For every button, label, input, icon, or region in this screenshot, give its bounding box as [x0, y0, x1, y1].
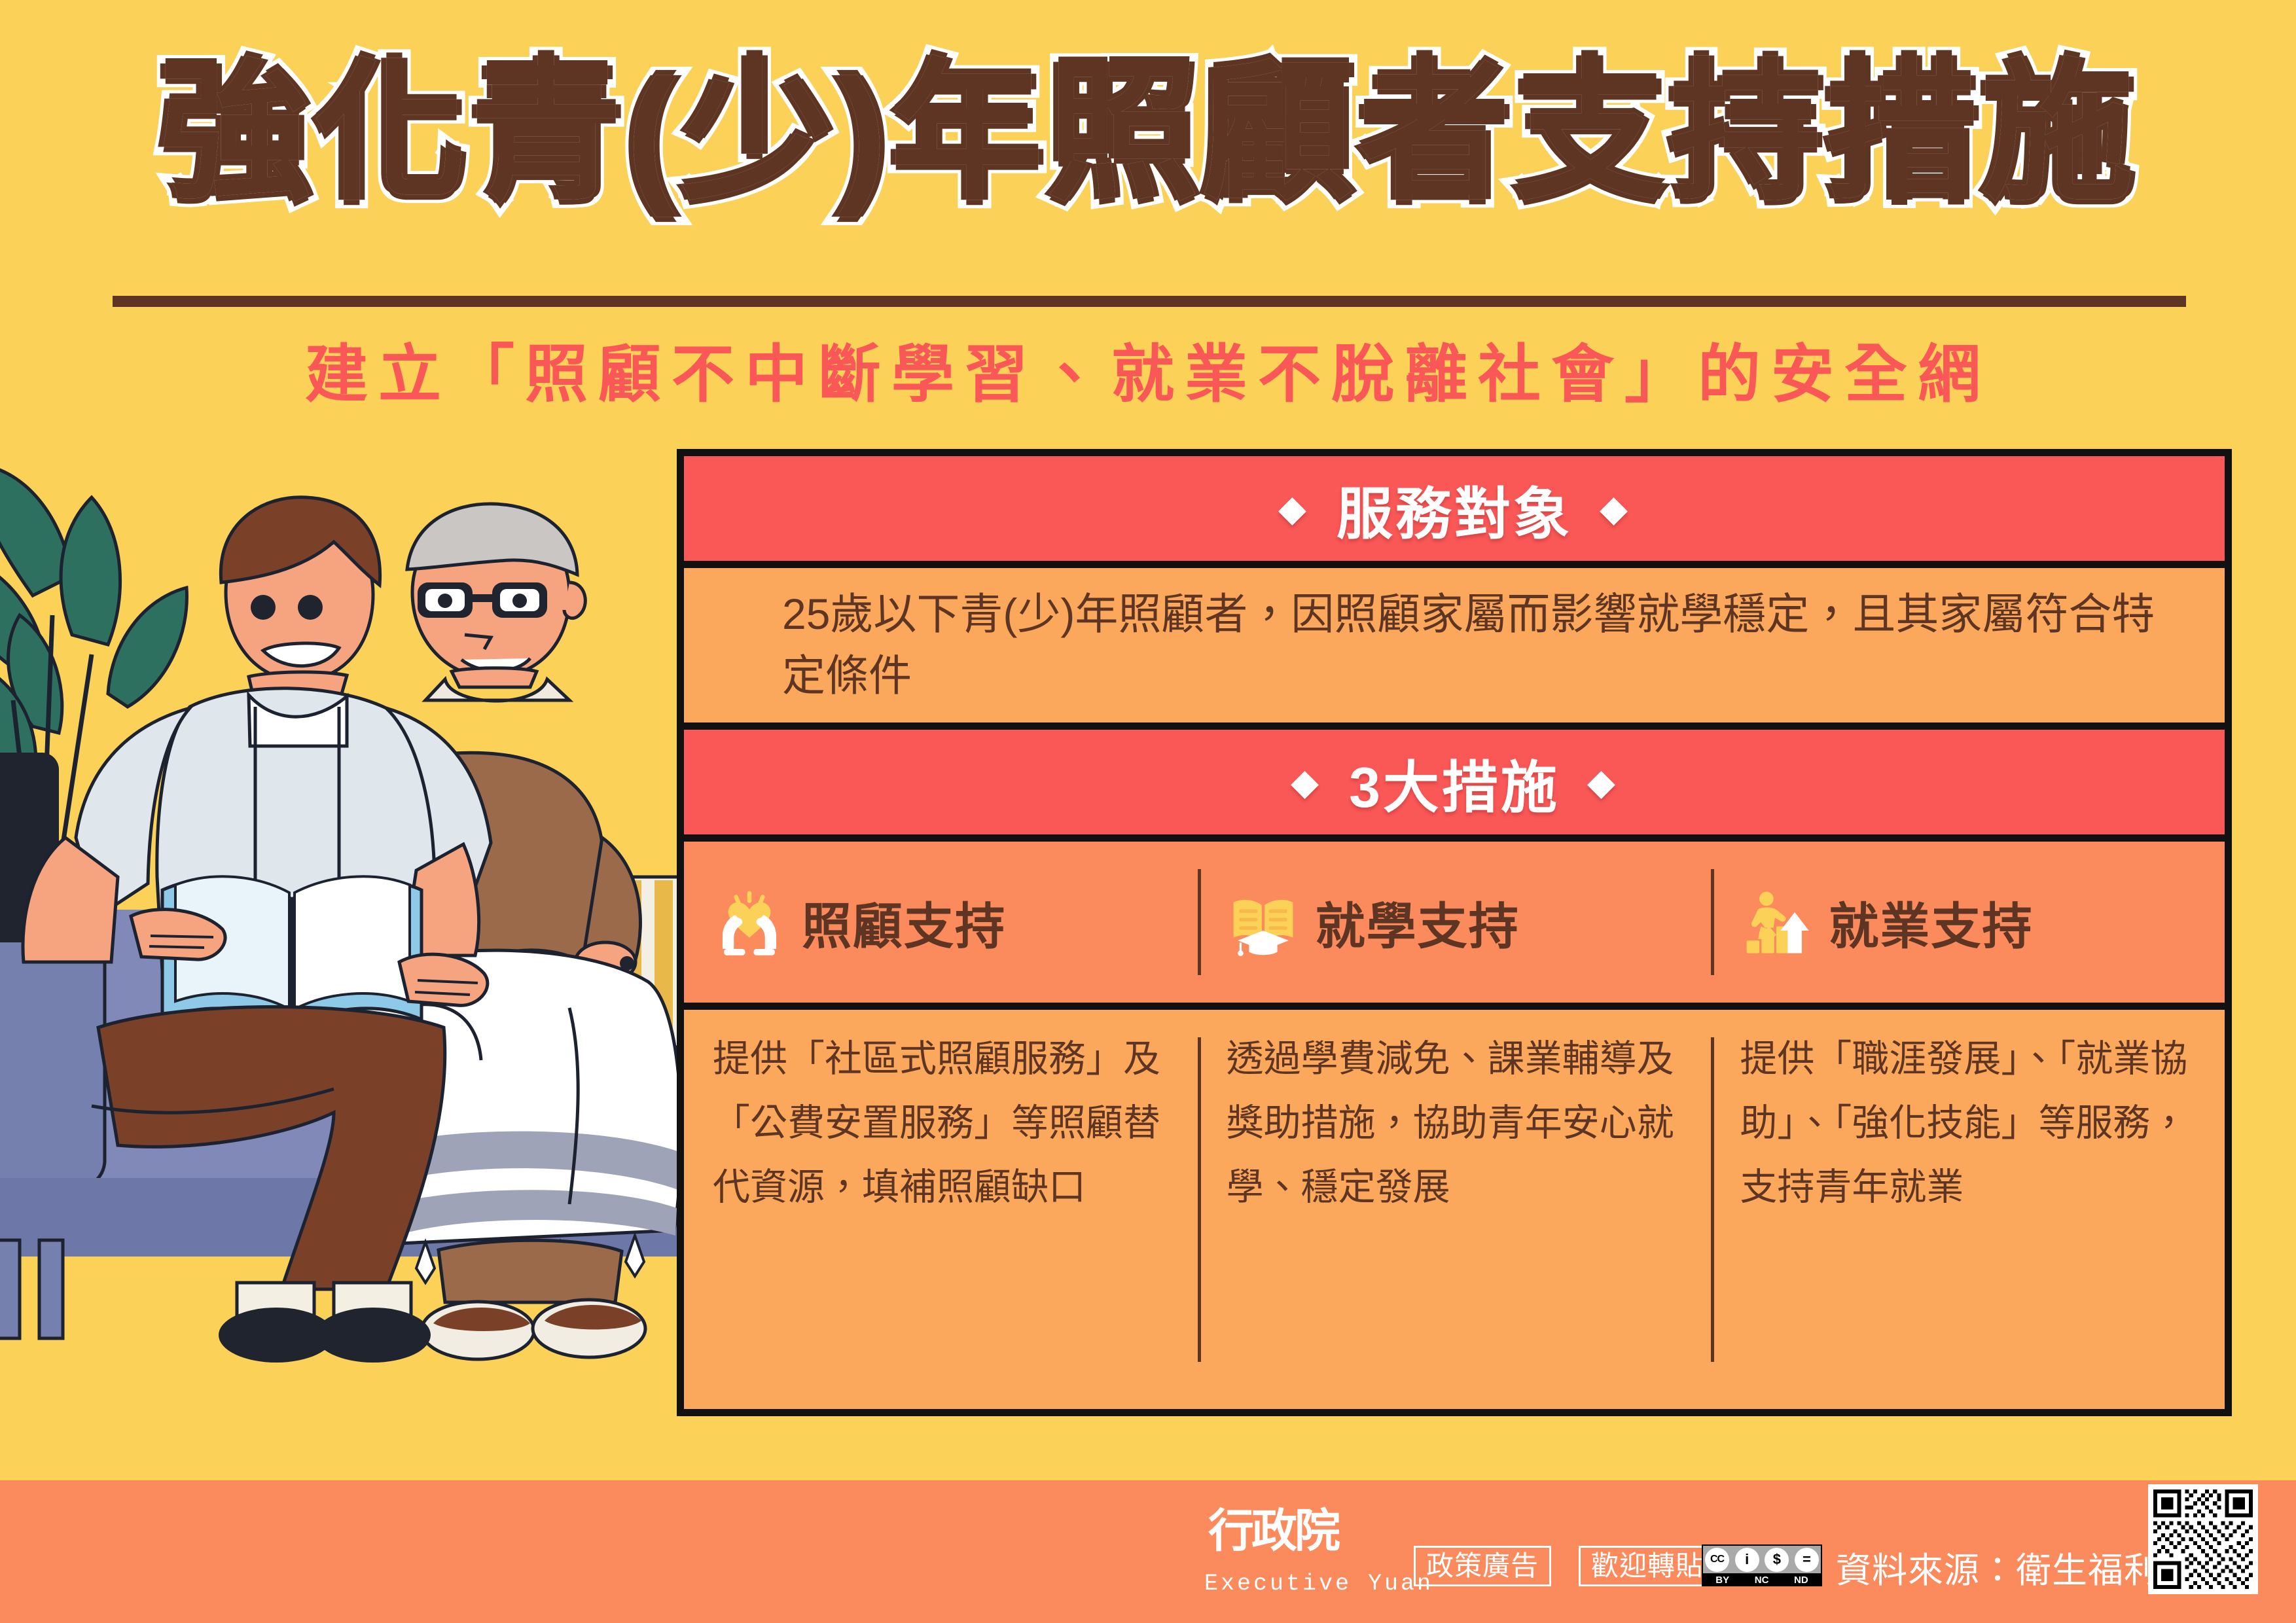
title-block: 強化青(少)年照顧者支持措施 [0, 58, 2296, 209]
welcome-repost-tag[interactable]: 歡迎轉貼 [1579, 1546, 1716, 1586]
measure-body-care: 提供「社區式照顧服務」及「公費安置服務」等照顧替代資源，填補照顧缺口 [684, 1010, 1198, 1389]
young-caregiver-reading-with-elderly-man-illustration [0, 419, 700, 1486]
cc-nd-icon: = [1795, 1548, 1819, 1572]
measure-body-text-care: 提供「社區式照顧服務」及「公費安置服務」等照顧替代資源，填補照顧缺口 [684, 1027, 1198, 1219]
caring-hands-heart-icon [714, 887, 785, 957]
measures-header: ◆ 3大措施 ◆ [684, 730, 2225, 842]
cc-nd-label: ND [1794, 1575, 1808, 1586]
diamond-left-icon: ◆ [1291, 764, 1321, 800]
service-target-text: 25歲以下青(少)年照顧者，因照顧家屬而影響就學穩定，且其家屬符合特定條件 [684, 584, 2225, 706]
measure-column-employment-header: 就業支持 [1711, 842, 2225, 1003]
service-target-heading-label: 服務對象 [1336, 468, 1572, 550]
elderly-man-legs-and-shoes [422, 1240, 645, 1359]
measure-column-education-header: 就學支持 [1198, 842, 1712, 1003]
measures-column-headers: 照顧支持 [684, 842, 2225, 1010]
policy-ad-tag[interactable]: 政策廣告 [1414, 1546, 1551, 1586]
measures-heading-label: 3大措施 [1349, 741, 1560, 823]
qr-code[interactable] [2148, 1484, 2258, 1594]
poster-root: 強化青(少)年照顧者支持措施 建立「照顧不中斷學習、就業不脫離社會」的安全網 [0, 0, 2296, 1623]
diamond-right-icon: ◆ [1600, 490, 1630, 527]
cc-by-icon: i [1735, 1548, 1759, 1572]
measure-body-education: 透過學費減免、課業輔導及獎助措施，協助青年安心就學、穩定發展 [1198, 1010, 1712, 1389]
creative-commons-license-badge: CC i $ = BY NC ND [1702, 1544, 1822, 1586]
page-subtitle: 建立「照顧不中斷學習、就業不脫離社會」的安全網 [0, 323, 2296, 414]
cc-by-label: BY [1715, 1575, 1729, 1586]
cc-icon: CC [1705, 1548, 1729, 1572]
cc-nc-icon: $ [1765, 1548, 1789, 1572]
measures-column-bodies: 提供「社區式照顧服務」及「公費安置服務」等照顧替代資源，填補照顧缺口 透過學費減… [684, 1010, 2225, 1389]
data-source-text: 資料來源：衛生福利部 [1836, 1541, 2196, 1593]
cc-nc-label: NC [1755, 1575, 1769, 1586]
measure-label-education: 就學支持 [1316, 886, 1520, 958]
measure-label-care: 照顧支持 [802, 886, 1006, 958]
service-target-header: ◆ 服務對象 ◆ [684, 456, 2225, 568]
executive-yuan-logo-chinese: 行政院 [1208, 1494, 1378, 1560]
measure-column-care-header: 照顧支持 [684, 842, 1198, 1003]
page-title: 強化青(少)年照顧者支持措施 [159, 58, 2138, 209]
measures-table: ◆ 服務對象 ◆ 25歲以下青(少)年照顧者，因照顧家屬而影響就學穩定，且其家屬… [677, 449, 2232, 1416]
measure-body-text-education: 透過學費減免、課業輔導及獎助措施，協助青年安心就學、穩定發展 [1198, 1027, 1712, 1219]
career-growth-stairs-icon [1741, 887, 1812, 957]
open-book-graduation-cap-icon [1228, 887, 1299, 957]
measure-label-employment: 就業支持 [1829, 886, 2033, 958]
measure-body-employment: 提供「職涯發展」、「就業協助」、「強化技能」等服務，支持青年就業 [1711, 1010, 2225, 1389]
title-underline-rule [113, 296, 2186, 307]
executive-yuan-logo-english: Executive Yuan [1204, 1571, 1388, 1597]
service-target-body: 25歲以下青(少)年照顧者，因照顧家屬而影響就學穩定，且其家屬符合特定條件 [684, 568, 2225, 730]
diamond-left-icon: ◆ [1278, 490, 1309, 527]
diamond-right-icon: ◆ [1587, 764, 1618, 800]
measure-body-text-employment: 提供「職涯發展」、「就業協助」、「強化技能」等服務，支持青年就業 [1711, 1027, 2225, 1219]
